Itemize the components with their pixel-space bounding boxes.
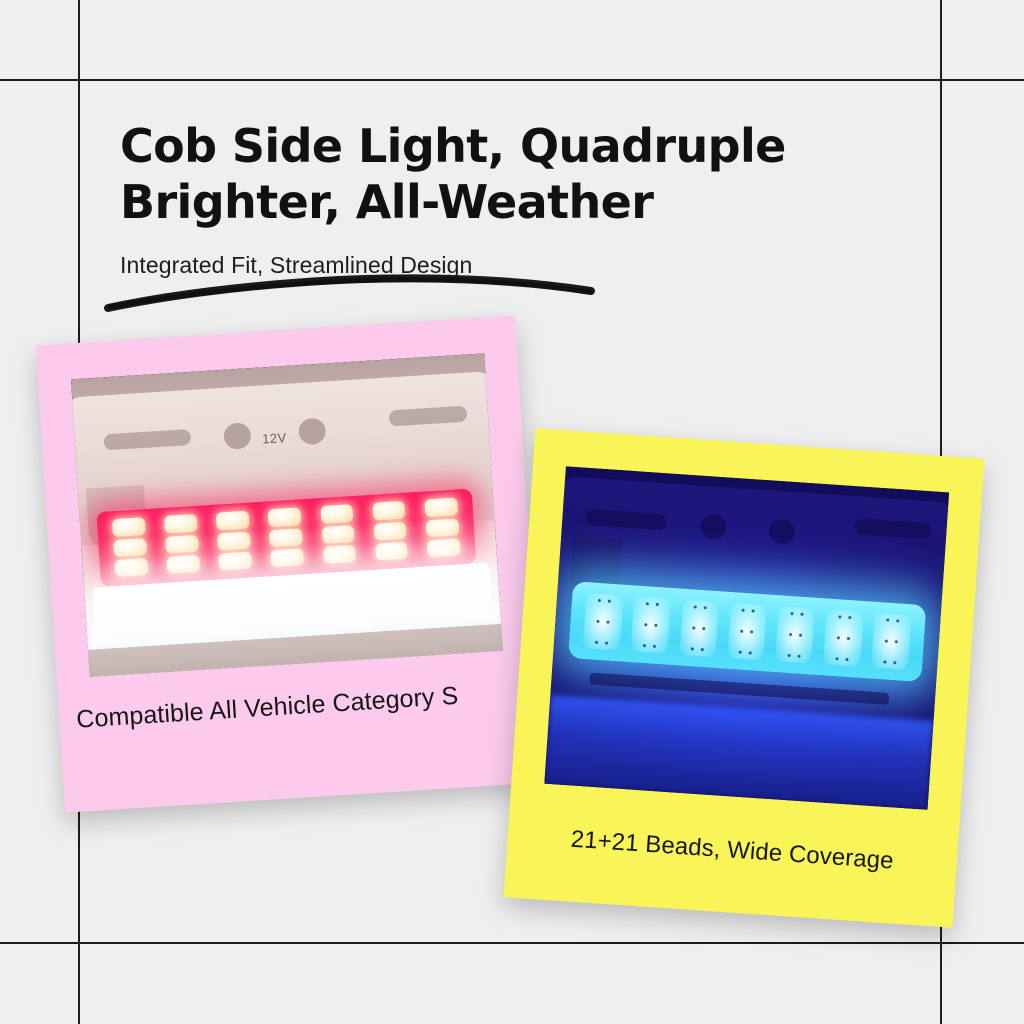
led-bead-cluster bbox=[372, 501, 408, 561]
bead-dot bbox=[800, 613, 803, 616]
bead-dot bbox=[752, 610, 755, 613]
product-photo-red-white-lamp: 12V bbox=[71, 353, 503, 676]
bead-dot bbox=[749, 651, 752, 654]
grid-line-horizontal-top bbox=[0, 79, 1024, 81]
bead-dot bbox=[653, 645, 656, 648]
bead-dot bbox=[739, 651, 742, 654]
page-subtitle: Integrated Fit, Streamlined Design bbox=[120, 252, 820, 279]
bead-dot bbox=[799, 634, 802, 637]
bead-dot bbox=[790, 612, 793, 615]
product-photo-blue-lamp bbox=[544, 466, 949, 809]
bead-dot bbox=[893, 661, 896, 664]
card-caption-pink: Compatible All Vehicle Category S bbox=[75, 679, 506, 735]
led-bead bbox=[167, 555, 201, 574]
blue-light-glow bbox=[544, 695, 933, 810]
bead-dot bbox=[605, 641, 608, 644]
bead-dot bbox=[835, 657, 838, 660]
bead-dot bbox=[883, 660, 886, 663]
banner-stage: Cob Side Light, Quadruple Brighter, All-… bbox=[0, 0, 1024, 1024]
led-bead bbox=[323, 545, 357, 564]
led-bead-cluster-blue bbox=[586, 590, 621, 654]
product-card-pink[interactable]: 12V Compatible All bbox=[36, 315, 544, 812]
bead-dot bbox=[702, 627, 705, 630]
led-bead bbox=[269, 528, 303, 547]
led-bead bbox=[219, 551, 253, 570]
led-bead bbox=[112, 517, 146, 536]
led-bead bbox=[113, 538, 147, 557]
led-bead bbox=[320, 504, 354, 523]
bead-dot bbox=[694, 606, 697, 609]
led-bead bbox=[217, 531, 251, 550]
product-card-yellow[interactable]: 21+21 Beads, Wide Coverage bbox=[504, 428, 985, 928]
led-bead-cluster-blue bbox=[826, 606, 861, 670]
bead-dot bbox=[838, 616, 841, 619]
led-bead bbox=[372, 501, 406, 520]
bead-dot bbox=[787, 654, 790, 657]
led-bead-cluster bbox=[164, 514, 200, 574]
voltage-label: 12V bbox=[262, 430, 287, 446]
bead-dot bbox=[847, 637, 850, 640]
bead-dot bbox=[837, 636, 840, 639]
card-caption-yellow: 21+21 Beads, Wide Coverage bbox=[540, 824, 925, 878]
bead-dot bbox=[845, 658, 848, 661]
led-bead bbox=[373, 521, 407, 540]
led-bead bbox=[165, 534, 199, 553]
led-bead-cluster bbox=[112, 517, 148, 577]
led-bead-cluster bbox=[216, 511, 252, 571]
bead-dot bbox=[692, 626, 695, 629]
led-bead bbox=[425, 518, 459, 537]
led-bead bbox=[115, 558, 149, 577]
bead-dot bbox=[701, 648, 704, 651]
bead-dot bbox=[654, 624, 657, 627]
led-bead bbox=[216, 511, 250, 530]
bead-dot bbox=[750, 630, 753, 633]
led-bead bbox=[271, 548, 305, 567]
bead-dot bbox=[895, 640, 898, 643]
led-bead bbox=[268, 507, 302, 526]
bead-dot bbox=[595, 641, 598, 644]
bead-dot bbox=[848, 616, 851, 619]
bead-dot bbox=[656, 603, 659, 606]
led-bead bbox=[321, 525, 355, 544]
bead-dot bbox=[643, 644, 646, 647]
led-bead-cluster-blue bbox=[682, 596, 717, 660]
bead-dot bbox=[608, 600, 611, 603]
bead-dot bbox=[691, 647, 694, 650]
bead-dot bbox=[704, 606, 707, 609]
bead-dot bbox=[896, 619, 899, 622]
grid-line-horizontal-bottom bbox=[0, 942, 1024, 944]
bead-dot bbox=[596, 620, 599, 623]
led-bead-cluster-blue bbox=[778, 603, 813, 667]
led-bead-cluster bbox=[424, 498, 460, 558]
header-block: Cob Side Light, Quadruple Brighter, All-… bbox=[120, 118, 820, 279]
led-bead bbox=[427, 538, 461, 557]
bead-dot bbox=[797, 655, 800, 658]
bead-dot bbox=[646, 602, 649, 605]
bead-dot bbox=[741, 630, 744, 633]
bead-dot bbox=[742, 609, 745, 612]
bead-dot bbox=[644, 623, 647, 626]
bead-dot bbox=[885, 640, 888, 643]
bead-dot bbox=[789, 633, 792, 636]
led-bead-cluster-blue bbox=[730, 599, 765, 663]
bead-dot bbox=[606, 621, 609, 624]
led-bead bbox=[164, 514, 198, 533]
led-bead-cluster bbox=[320, 504, 356, 564]
led-bead-cluster-blue bbox=[634, 593, 669, 657]
led-bead bbox=[375, 542, 409, 561]
led-bead-cluster-blue bbox=[874, 609, 909, 673]
bead-dot bbox=[598, 599, 601, 602]
bead-dot bbox=[886, 619, 889, 622]
page-title: Cob Side Light, Quadruple Brighter, All-… bbox=[120, 118, 820, 230]
led-bead-cluster bbox=[268, 507, 304, 567]
led-bead bbox=[424, 498, 458, 517]
